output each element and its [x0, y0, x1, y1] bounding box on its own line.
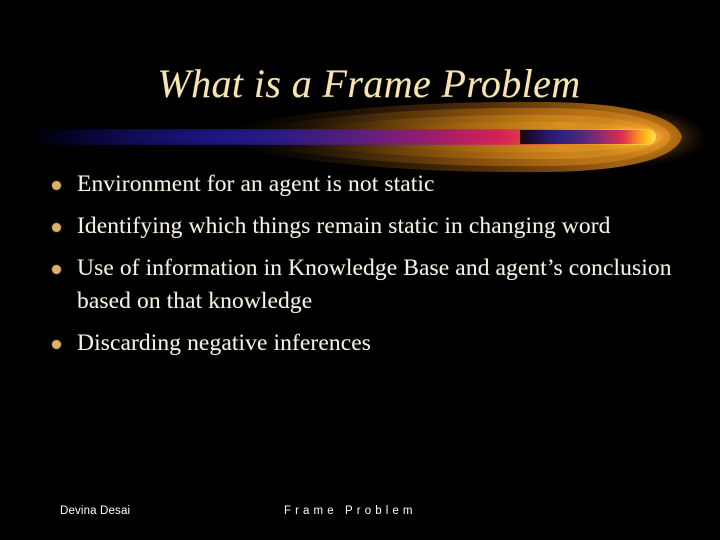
footer-subject: Frame Problem [284, 504, 417, 518]
list-item-label: Use of information in Knowledge Base and… [77, 252, 682, 318]
bullet-dot-icon [52, 223, 61, 232]
list-item-label: Discarding negative inferences [77, 327, 682, 360]
list-item: Identifying which things remain static i… [52, 210, 682, 243]
footer-author: Devina Desai [60, 504, 130, 518]
slide: What is a Frame Problem Environment for … [0, 0, 720, 540]
slide-footer: Devina Desai Frame Problem [0, 496, 720, 540]
list-item-label: Environment for an agent is not static [77, 168, 682, 201]
bullet-list: Environment for an agent is not static I… [52, 168, 682, 369]
list-item: Use of information in Knowledge Base and… [52, 252, 682, 318]
bullet-dot-icon [52, 265, 61, 274]
list-item: Discarding negative inferences [52, 327, 682, 360]
bullet-dot-icon [52, 340, 61, 349]
list-item: Environment for an agent is not static [52, 168, 682, 201]
list-item-label: Identifying which things remain static i… [77, 210, 682, 243]
flare-bar [30, 129, 656, 145]
flare-bar-tip [520, 130, 655, 144]
bullet-dot-icon [52, 181, 61, 190]
page-title: What is a Frame Problem [139, 60, 580, 108]
title-area: What is a Frame Problem [0, 60, 720, 118]
